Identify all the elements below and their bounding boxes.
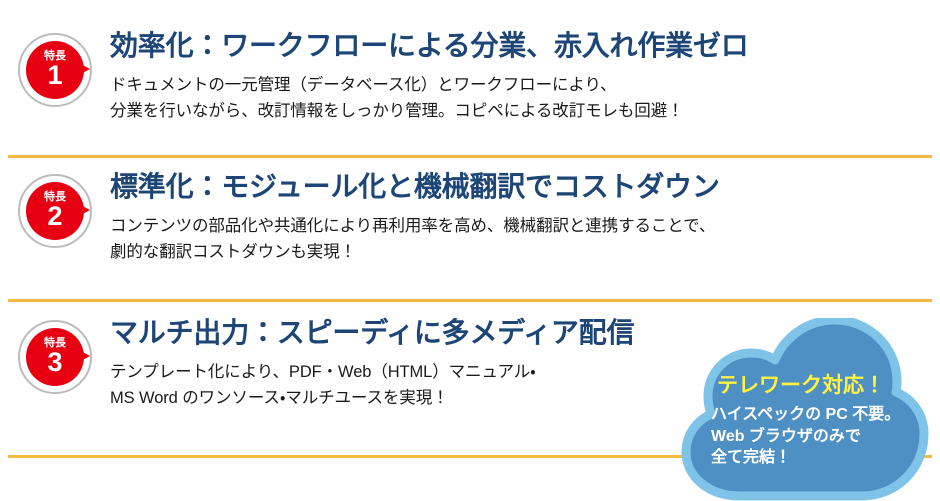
feature-badge: 特長 3: [14, 313, 102, 405]
feature-body-line: ドキュメントの一元管理（データベース化）とワークフローにより、: [110, 72, 940, 98]
feature-body-line: 劇的な翻訳コストダウンも実現！: [110, 239, 940, 265]
badge-circle: 特長 2: [26, 182, 84, 240]
feature-body-line: コンテンツの部品化や共通化により再利用率を高め、機械翻訳と連携することで、: [110, 213, 940, 239]
badge-circle: 特長 1: [26, 41, 84, 99]
feature-badge: 特長 2: [14, 167, 102, 259]
feature-title: 標準化：モジュール化と機械翻訳でコストダウン: [110, 171, 940, 203]
section-separator: [8, 155, 932, 158]
feature-list-graphic: 特長 1 効率化：ワークフローによる分業、赤入れ作業ゼロ ドキュメントの一元管理…: [0, 0, 940, 501]
badge-circle: 特長 3: [26, 328, 84, 386]
feature-row: 特長 1 効率化：ワークフローによる分業、赤入れ作業ゼロ ドキュメントの一元管理…: [0, 26, 940, 124]
feature-text-block: 標準化：モジュール化と機械翻訳でコストダウン コンテンツの部品化や共通化により再…: [102, 167, 940, 265]
feature-body: ドキュメントの一元管理（データベース化）とワークフローにより、 分業を行いながら…: [110, 72, 940, 124]
feature-row: 特長 2 標準化：モジュール化と機械翻訳でコストダウン コンテンツの部品化や共通…: [0, 167, 940, 265]
badge-number-label: 2: [47, 204, 62, 230]
feature-badge: 特長 1: [14, 26, 102, 118]
badge-number-label: 3: [47, 350, 62, 376]
feature-body: コンテンツの部品化や共通化により再利用率を高め、機械翻訳と連携することで、 劇的…: [110, 213, 940, 265]
feature-body-line: 分業を行いながら、改訂情報をしっかり管理。コピペによる改訂モレも回避！: [110, 98, 940, 124]
cloud-icon: [668, 318, 934, 501]
feature-title: 効率化：ワークフローによる分業、赤入れ作業ゼロ: [110, 30, 940, 62]
telework-cloud-callout: テレワーク対応！ ハイスペックの PC 不要。 Web ブラウザのみで 全て完結…: [668, 318, 934, 501]
section-separator: [8, 299, 932, 302]
badge-number-label: 1: [47, 63, 62, 89]
feature-text-block: 効率化：ワークフローによる分業、赤入れ作業ゼロ ドキュメントの一元管理（データベ…: [102, 26, 940, 124]
